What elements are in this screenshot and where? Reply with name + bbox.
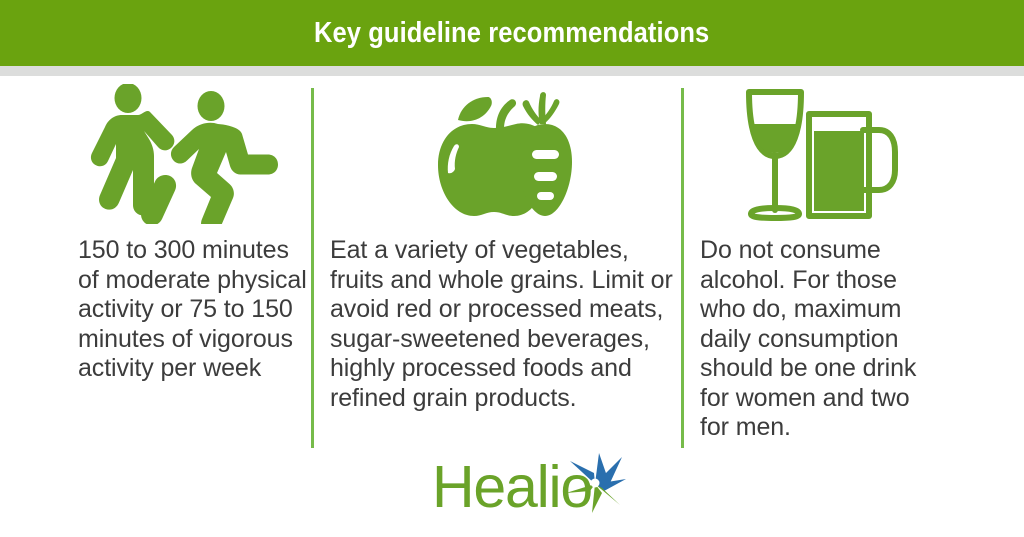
icon-container xyxy=(60,76,308,236)
healio-logo: Healio xyxy=(0,452,1024,522)
recommendation-columns: 150 to 300 minutes of moderate physical … xyxy=(0,76,1024,456)
recommendation-column-diet: Eat a variety of vegetables, fruits and … xyxy=(330,76,675,456)
page-title: Key guideline recommendations xyxy=(314,19,709,48)
wine-glass-and-beer-mug-icon xyxy=(729,84,901,229)
apple-and-carrot-icon xyxy=(428,84,578,229)
icon-container xyxy=(700,76,940,236)
icon-container xyxy=(330,76,675,236)
infographic-root: Key guideline recommendations xyxy=(0,0,1024,537)
recommendation-text-physical-activity: 150 to 300 minutes of moderate physical … xyxy=(60,236,310,384)
column-divider-1 xyxy=(311,88,314,448)
recommendation-column-alcohol: Do not consume alcohol. For those who do… xyxy=(700,76,940,456)
healio-compass-star-icon xyxy=(564,453,626,515)
walking-and-running-people-icon xyxy=(78,84,288,229)
recommendation-text-diet: Eat a variety of vegetables, fruits and … xyxy=(330,236,675,413)
recommendation-column-physical-activity: 150 to 300 minutes of moderate physical … xyxy=(60,76,308,456)
header-underline-divider xyxy=(0,66,1024,76)
column-divider-2 xyxy=(681,88,684,448)
recommendation-text-alcohol: Do not consume alcohol. For those who do… xyxy=(700,236,938,443)
header-bar: Key guideline recommendations xyxy=(0,0,1024,66)
